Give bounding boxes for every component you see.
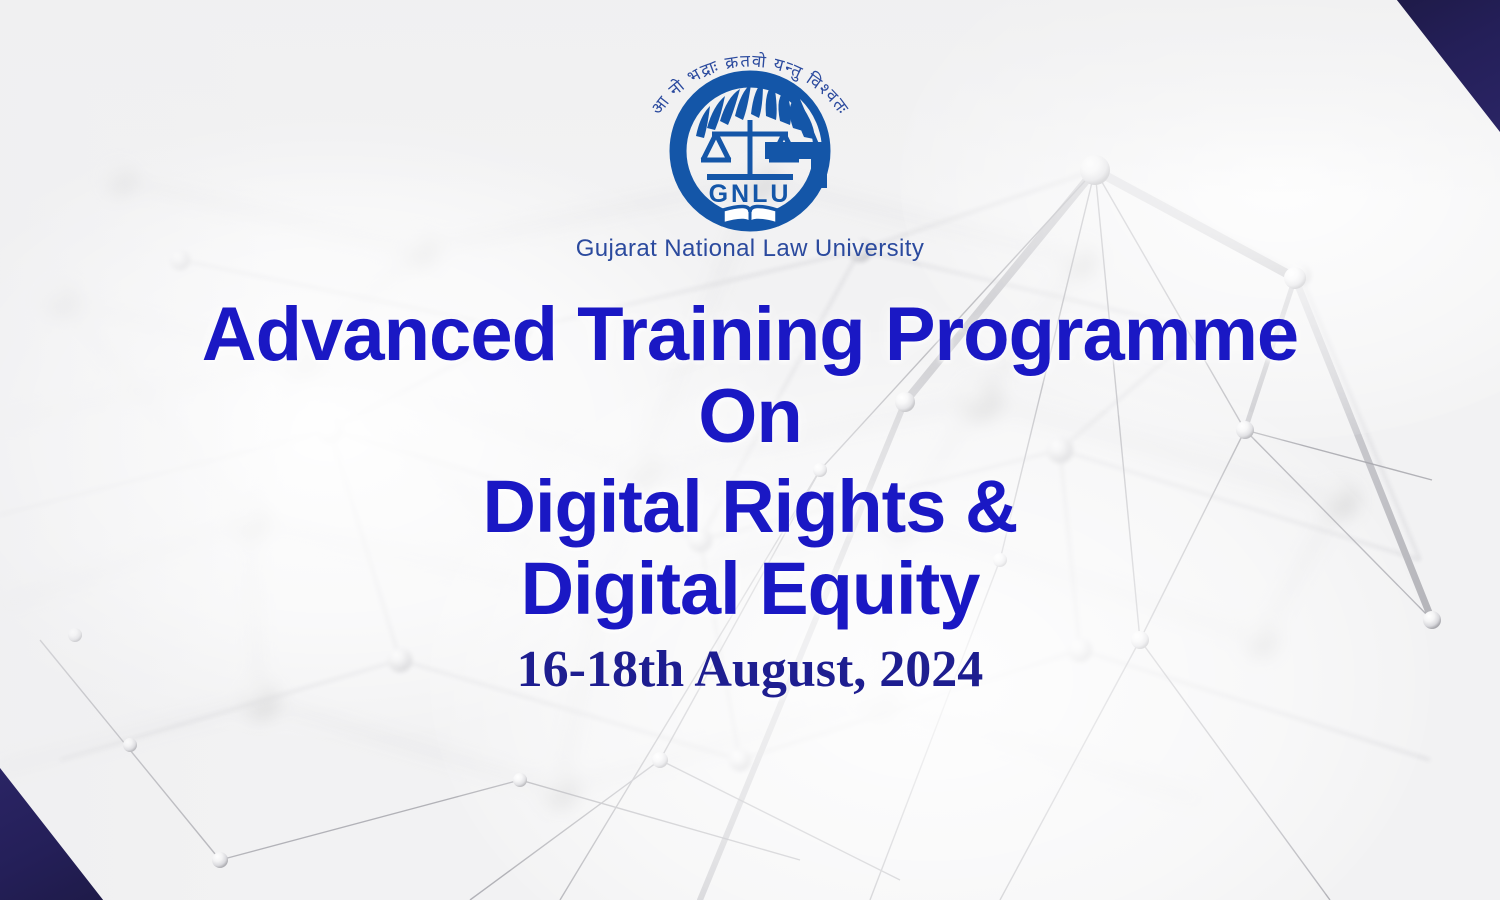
programme-topic-line-2: Digital Equity [0, 551, 1500, 626]
gnlu-seal-icon: आ नो भद्राः क्रतवो यन्तु विश्वतः [615, 48, 885, 233]
university-name-text: Gujarat National Law University [576, 235, 925, 263]
gnlu-monogram-text: GNLU [709, 180, 792, 208]
poster-canvas: आ नो भद्राः क्रतवो यन्तु विश्वतः [0, 0, 1500, 900]
seal-open-book-icon [723, 206, 777, 226]
event-date-text: 16-18th August, 2024 [0, 640, 1500, 699]
programme-title-line-1: Advanced Training Programme [0, 296, 1500, 374]
programme-title-line-2: On [0, 378, 1500, 456]
programme-topic-line-1: Digital Rights & [0, 469, 1500, 544]
headline-block: Advanced Training Programme On Digital R… [0, 296, 1500, 699]
gnlu-logo-block: आ नो भद्राः क्रतवो यन्तु विश्वतः [0, 48, 1500, 263]
